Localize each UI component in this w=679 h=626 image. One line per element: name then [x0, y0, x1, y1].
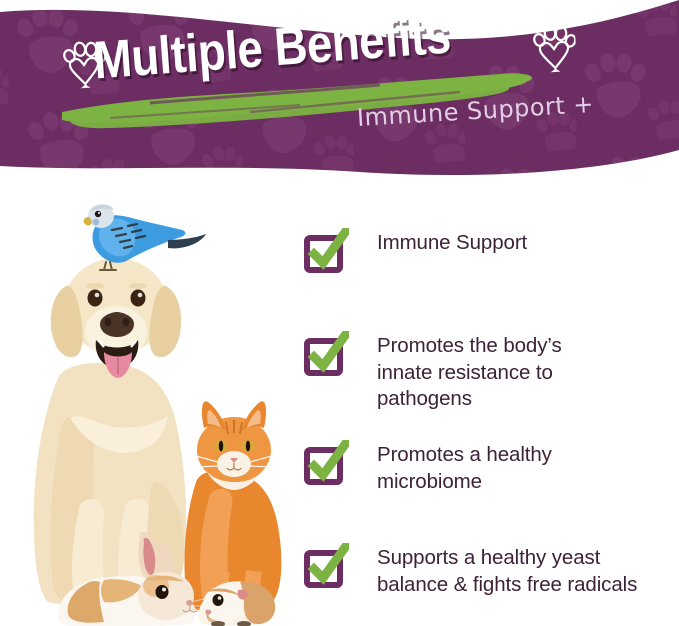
benefit-item-healthy-microbiome[interactable]: Promotes a healthy microbiome [303, 440, 602, 495]
checkbox-checked-icon[interactable] [303, 440, 349, 486]
pets-photo [0, 182, 300, 626]
header-banner: Multiple Benefits Immune Support + [0, 0, 679, 182]
benefit-label: Immune Support [377, 228, 527, 257]
benefit-item-innate-resistance[interactable]: Promotes the body’s innate resistance to… [303, 331, 612, 413]
banner-subtitle: Immune Support + [356, 90, 595, 132]
heart-paw-icon [530, 23, 577, 74]
banner-content: Multiple Benefits Immune Support + [0, 0, 679, 182]
checkbox-checked-icon[interactable] [303, 543, 349, 589]
benefit-label: Promotes the body’s innate resistance to… [377, 331, 612, 413]
benefit-label: Supports a healthy yeast balance & fight… [377, 543, 642, 598]
page-title: Multiple Benefits [92, 8, 452, 87]
checkbox-checked-icon[interactable] [303, 331, 349, 377]
benefit-item-immune-support[interactable]: Immune Support [303, 228, 527, 274]
benefit-label: Promotes a healthy microbiome [377, 440, 602, 495]
product-benefits-infographic: Multiple Benefits Immune Support + [0, 0, 679, 626]
checkbox-checked-icon[interactable] [303, 228, 349, 274]
benefit-item-yeast-balance[interactable]: Supports a healthy yeast balance & fight… [303, 543, 642, 598]
